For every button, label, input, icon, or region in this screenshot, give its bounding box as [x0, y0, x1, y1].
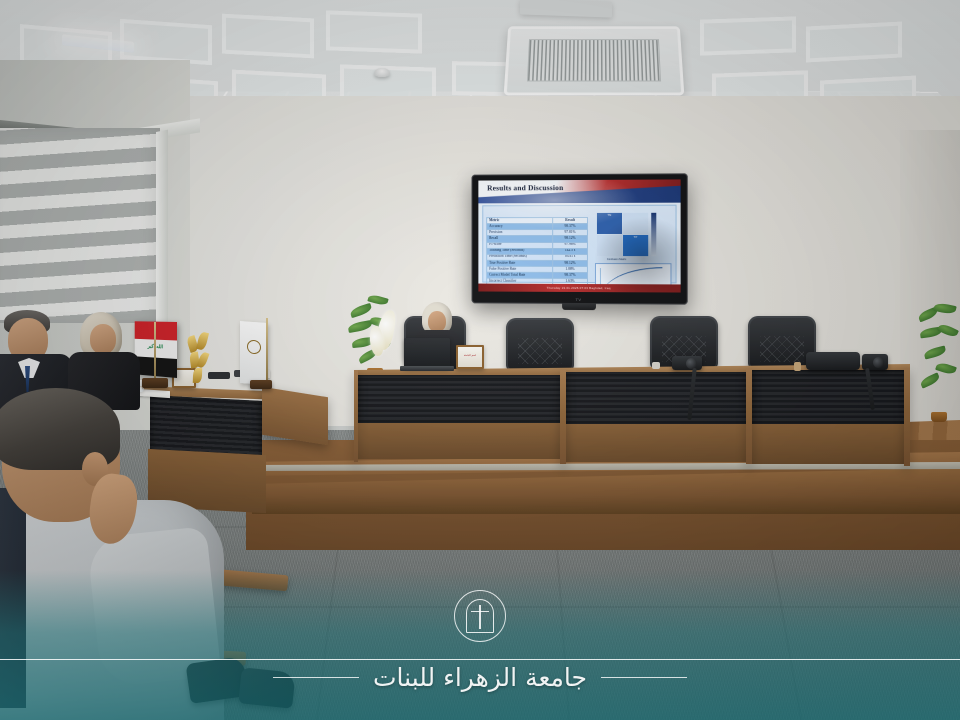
gold-leaf — [197, 351, 210, 369]
plant-leaf — [937, 322, 959, 339]
main-desk-panel — [566, 372, 748, 426]
tv-stand — [562, 303, 596, 310]
projector-housing — [520, 0, 612, 18]
tv-brand-mark: TV — [567, 297, 591, 302]
slide-title: Results and Discussion — [487, 183, 563, 192]
desk-divider — [560, 370, 566, 464]
brand-dash-right — [601, 677, 687, 679]
pennant-base — [250, 380, 272, 389]
ceiling-tile — [700, 16, 796, 55]
window-frame — [156, 130, 168, 332]
chair-backrest — [506, 318, 574, 371]
brand-lockup: جامعة الزهراء للبنات — [0, 663, 960, 692]
main-desk-panel — [752, 370, 908, 426]
main-desk-base — [564, 424, 750, 462]
main-desk-base — [750, 424, 910, 464]
main-desk-base — [356, 423, 562, 459]
potted-plant-right — [918, 302, 960, 422]
slide-footer: Thursday 19.01.2026 07:03 Baghdad, Iraq — [478, 284, 680, 293]
slide-table-column: Metric Result Accuracy 98.37% Precision … — [486, 209, 588, 279]
plant-leaf — [923, 345, 947, 359]
plant-leaf — [933, 302, 956, 315]
main-desk-panel — [358, 375, 562, 425]
person-face — [90, 324, 116, 354]
plant-leaf — [349, 303, 373, 318]
slide-body: Metric Result Accuracy 98.37% Precision … — [482, 205, 676, 284]
cm-quadrant-fn — [597, 235, 622, 256]
ceiling-tile — [222, 14, 314, 59]
ceiling-tile — [326, 10, 422, 53]
university-pennant — [240, 321, 268, 385]
desk-microphone — [652, 362, 660, 369]
zebra-roller-blind — [0, 128, 160, 323]
conference-hall-photo: Results and Discussion 1. Binary Classif… — [0, 0, 960, 720]
camera-bag — [806, 352, 860, 370]
brand-dash-left — [273, 677, 359, 679]
desk-divider — [354, 370, 358, 462]
plant-pot — [931, 412, 947, 422]
ac-frame — [504, 26, 685, 95]
slide-chart-column: TN TP Confusion Matrix — [591, 209, 673, 280]
desk-microphone — [208, 372, 230, 379]
potted-plant-left — [348, 292, 402, 378]
cm-quadrant-fp — [623, 213, 648, 234]
results-table: Metric Result Accuracy 98.37% Precision … — [486, 217, 588, 286]
wall-mounted-television: Results and Discussion 1. Binary Classif… — [472, 173, 688, 304]
ceiling-ac-unit — [504, 26, 685, 95]
smoke-detector-icon — [374, 68, 390, 77]
camera-lens — [873, 357, 884, 368]
tv-screen: Results and Discussion 1. Binary Classif… — [478, 179, 680, 292]
plant-leaf — [935, 361, 957, 376]
cm-quadrant-tn: TN — [597, 213, 622, 234]
gold-leaf — [193, 368, 203, 383]
cm-colorbar — [651, 213, 656, 256]
nameplate-text: اسم الباحثة — [459, 354, 481, 357]
university-emblem-icon — [247, 339, 261, 354]
desk-divider — [904, 368, 910, 466]
ceiling-tile — [806, 21, 902, 62]
presenter-face — [428, 311, 446, 332]
flag-pole — [154, 322, 156, 384]
confusion-matrix-chart: TN TP Confusion Matrix — [595, 211, 672, 259]
plant-leaf — [919, 372, 941, 388]
chair-quilting — [760, 336, 804, 362]
desk-object — [794, 362, 801, 371]
presentation-slide: Results and Discussion 1. Binary Classif… — [478, 179, 680, 292]
desk-divider — [746, 368, 752, 464]
cm-axis-label: Confusion Matrix — [607, 258, 627, 261]
laptop-screen — [404, 338, 450, 368]
cm-quadrant-tp: TP — [623, 235, 648, 256]
pennant-pole — [266, 318, 268, 384]
brand-divider-line — [0, 659, 960, 661]
university-name-arabic: جامعة الزهراء للبنات — [373, 663, 587, 692]
gold-leaf — [196, 331, 209, 351]
chair-quilting — [518, 338, 562, 364]
crest-arch-shape — [466, 599, 494, 633]
dslr-camera — [672, 356, 702, 370]
laptop-base — [400, 366, 454, 371]
presenter-nameplate: اسم الباحثة — [456, 345, 484, 369]
gold-ornament — [186, 330, 210, 386]
university-crest-icon — [454, 590, 506, 642]
